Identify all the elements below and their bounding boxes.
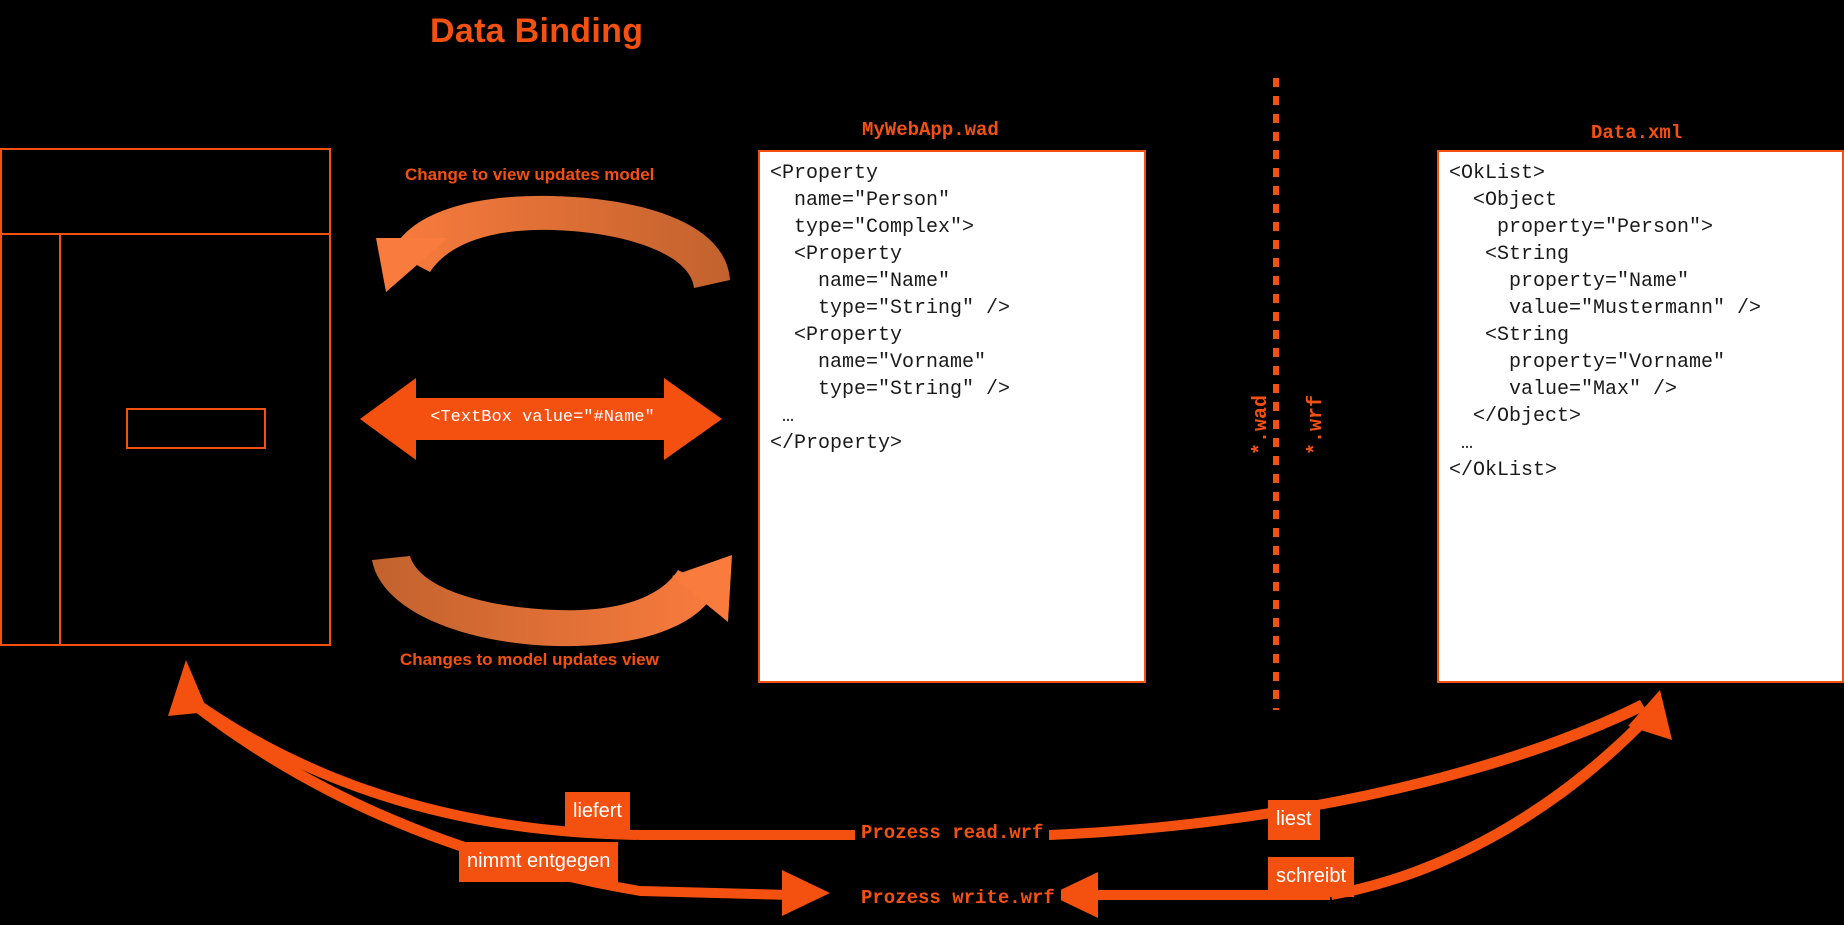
doc-title-xml: Data.xml	[1591, 122, 1682, 144]
tag-liefert: liefert	[565, 792, 630, 832]
label-model-updates-view: Changes to model updates view	[400, 650, 659, 670]
browser-header-bar	[0, 148, 331, 235]
dotted-divider	[1273, 78, 1279, 710]
flow-arrow-write	[190, 690, 1672, 918]
curved-arrow-view-to-model	[376, 196, 730, 292]
label-view-updates-model: Change to view updates model	[405, 165, 654, 185]
curved-arrow-model-to-view	[372, 555, 732, 646]
tag-liest: liest	[1268, 800, 1320, 840]
doc-code-xml: <OkList> <Object property="Person"> <Str…	[1449, 160, 1838, 484]
page-title: Data Binding	[430, 12, 643, 51]
tag-schreibt: schreibt	[1268, 857, 1354, 897]
process-write-label: Prozess write.wrf	[855, 885, 1061, 911]
document-data-xml: <OkList> <Object property="Person"> <Str…	[1437, 150, 1844, 683]
doc-code-wad: <Property name="Person" type="Complex"> …	[770, 160, 1140, 457]
textbox-binding-code: <TextBox value="#Name"	[415, 408, 670, 427]
browser-sidebar-divider	[59, 233, 61, 646]
label-file-ext-wad: *.wad	[1250, 395, 1273, 455]
view-browser-mockup	[0, 148, 331, 646]
textbox-binding-arrow-group: <TextBox value="#Name"	[360, 378, 724, 460]
document-mywebapp-wad: <Property name="Person" type="Complex"> …	[758, 150, 1146, 683]
process-read-label: Prozess read.wrf	[855, 820, 1049, 846]
flow-arrow-read	[168, 660, 1646, 840]
tag-nimmt-entgegen: nimmt entgegen	[459, 842, 618, 882]
label-file-ext-wrf: *.wrf	[1305, 395, 1328, 455]
view-textbox-field[interactable]	[126, 408, 266, 449]
diagram-canvas: Data Binding Change to view updates mode…	[0, 0, 1844, 925]
doc-title-wad: MyWebApp.wad	[862, 119, 999, 141]
